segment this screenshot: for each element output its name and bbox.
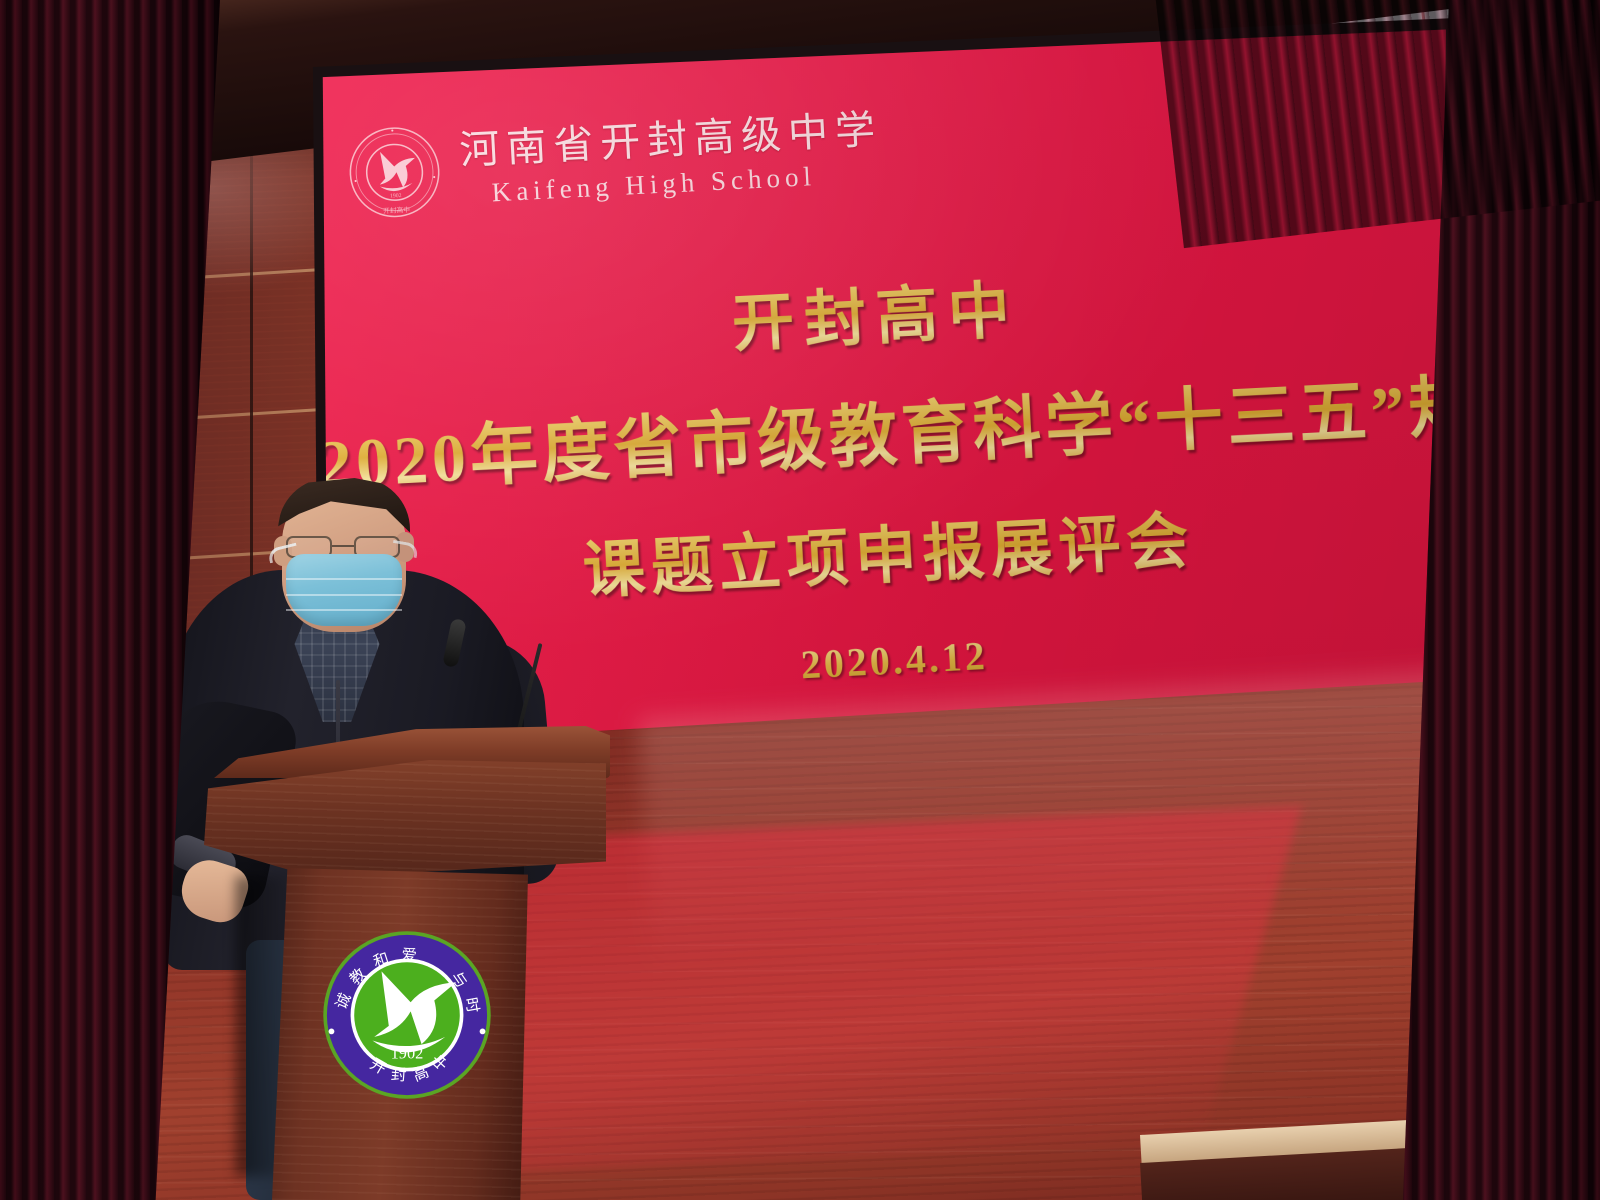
svg-text:1902: 1902 bbox=[391, 1044, 424, 1063]
screen-school-name-cn: 河南省开封高级中学 bbox=[458, 109, 883, 170]
kaifeng-high-school-emblem-color-icon: 1902 诚教和爱 与时俱进 开封高中 bbox=[316, 924, 498, 1106]
auditorium-scene: 1902 开封高中 河南省开封高级中学 Kaifeng High School … bbox=[0, 0, 1600, 1200]
screen-brand-lockup: 1902 开封高中 河南省开封高级中学 Kaifeng High School bbox=[344, 100, 885, 223]
svg-text:开封高中: 开封高中 bbox=[383, 205, 411, 215]
svg-text:1902: 1902 bbox=[390, 193, 402, 200]
surgical-face-mask bbox=[286, 554, 402, 626]
lectern-podium[interactable]: 1902 诚教和爱 与时俱进 开封高中 bbox=[196, 726, 616, 1200]
kaifeng-high-school-emblem-outline-icon: 1902 开封高中 bbox=[344, 122, 445, 223]
